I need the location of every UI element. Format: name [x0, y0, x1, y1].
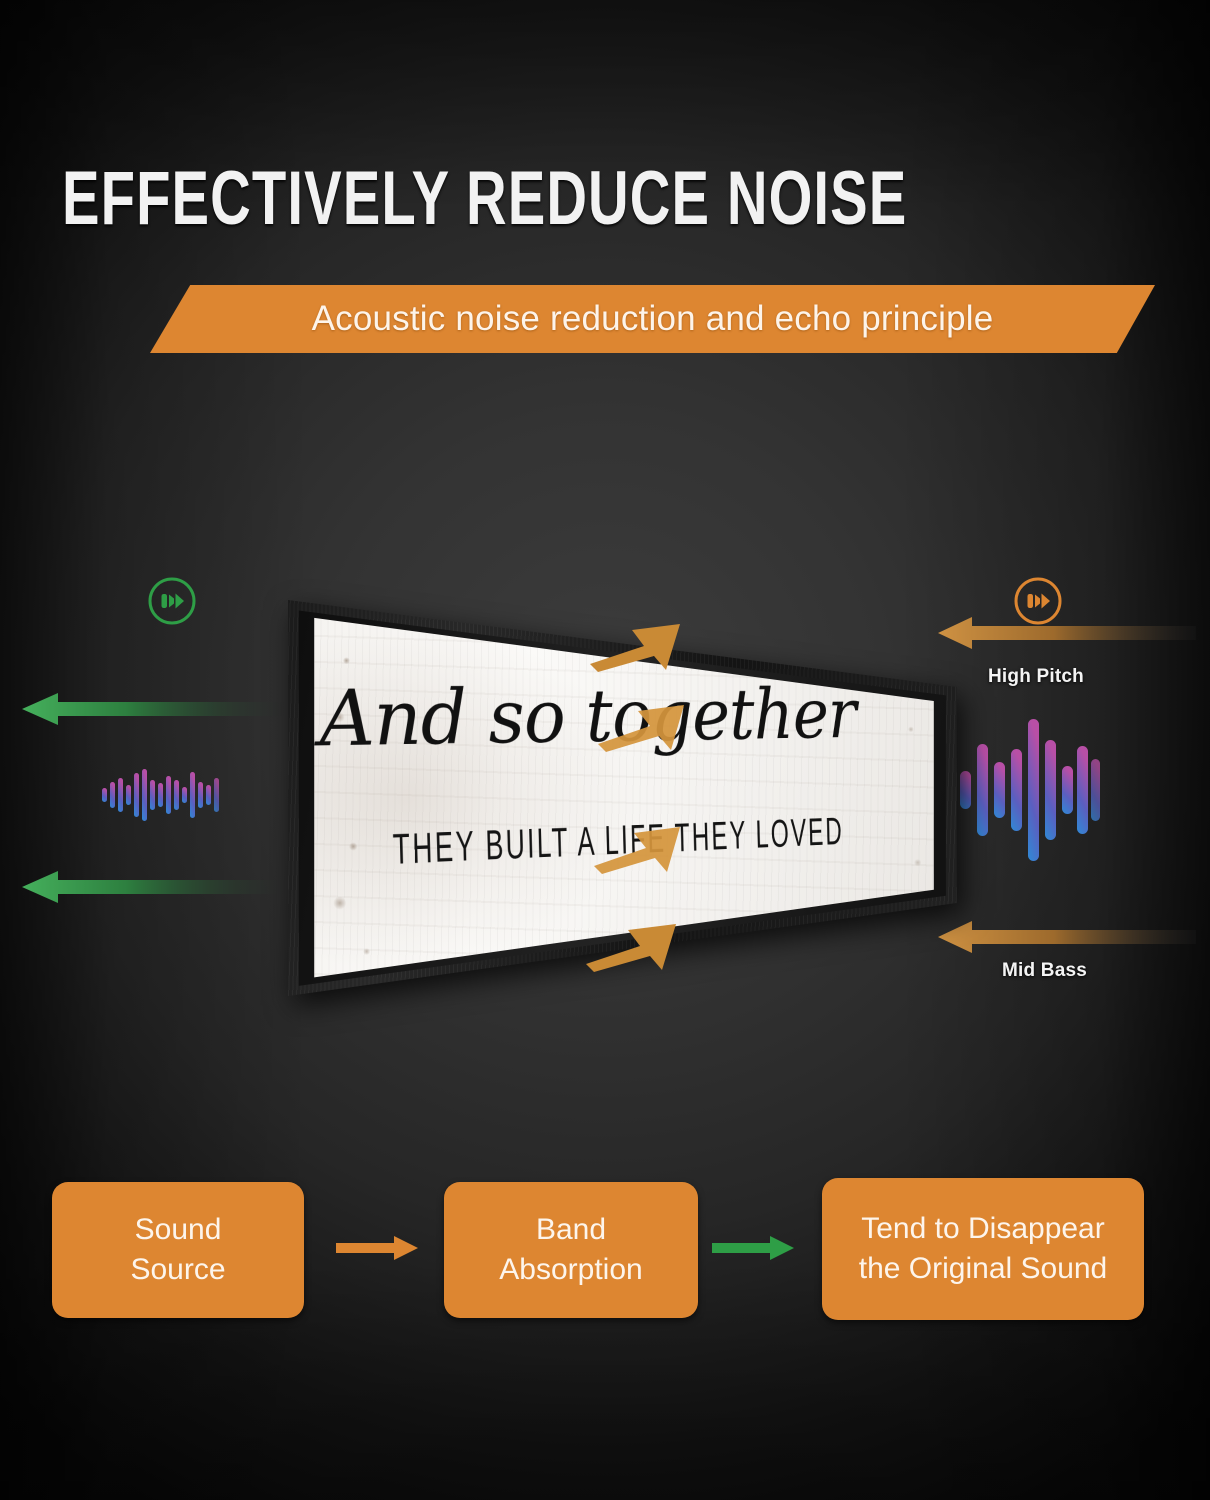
product-sign: And so together THEY BUILT A LIFE THEY L…	[286, 596, 958, 1000]
flow-step-line-2: Absorption	[499, 1250, 642, 1290]
speaker-forward-icon-right	[1012, 575, 1064, 627]
subtitle-text: Acoustic noise reduction and echo princi…	[150, 285, 1155, 353]
page-title: EFFECTIVELY REDUCE NOISE	[62, 158, 802, 240]
flow-connector-2	[712, 1232, 794, 1264]
flow-step-band-absorption[interactable]: Band Absorption	[444, 1182, 698, 1318]
flow-step-line-2: the Original Sound	[859, 1249, 1108, 1289]
incoming-sound-waveform	[958, 700, 1100, 880]
flow-connector-1	[336, 1232, 418, 1264]
flow-step-line-1: Sound	[130, 1210, 225, 1250]
flow-step-line-1: Band	[499, 1210, 642, 1250]
flow-step-line-2: Source	[130, 1250, 225, 1290]
infographic-canvas: EFFECTIVELY REDUCE NOISE Acoustic noise …	[0, 0, 1210, 1500]
attenuated-waveform	[100, 762, 224, 828]
high-pitch-label: High Pitch	[988, 666, 1084, 688]
flow-step-sound-source[interactable]: Sound Source	[52, 1182, 304, 1318]
subtitle-banner: Acoustic noise reduction and echo princi…	[150, 285, 1155, 353]
mid-bass-label: Mid Bass	[1002, 960, 1087, 982]
flow-step-line-1: Tend to Disappear	[859, 1209, 1108, 1249]
flow-step-tend-to-disappear[interactable]: Tend to Disappear the Original Sound	[822, 1178, 1144, 1320]
speaker-forward-icon-left	[146, 575, 198, 627]
